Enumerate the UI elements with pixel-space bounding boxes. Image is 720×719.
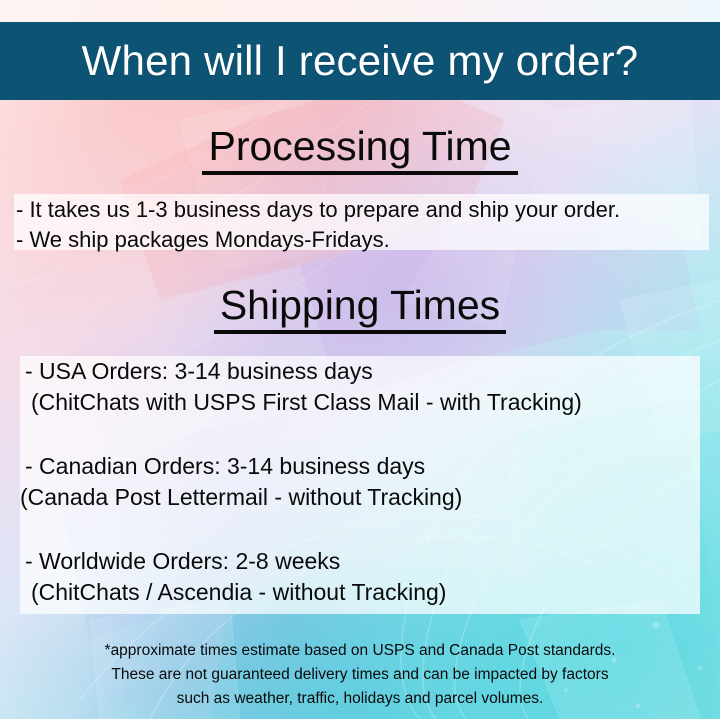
processing-line-1: - It takes us 1-3 business days to prepa… xyxy=(16,199,620,221)
page-title: When will I receive my order? xyxy=(82,40,639,82)
shipping-times-heading: Shipping Times xyxy=(0,285,720,334)
usa-order-carrier: (ChitChats with USPS First Class Mail - … xyxy=(31,391,582,414)
usa-order-region: - USA Orders: 3-14 business days xyxy=(25,360,373,383)
processing-line-2: - We ship packages Mondays-Fridays. xyxy=(16,229,390,251)
shipping-info-poster: When will I receive my order? Processing… xyxy=(0,0,720,719)
top-cream-strip xyxy=(0,0,720,22)
canada-order-carrier: (Canada Post Lettermail - without Tracki… xyxy=(20,486,462,509)
footer-disclaimer: *approximate times estimate based on USP… xyxy=(0,639,720,711)
footer-line-1: *approximate times estimate based on USP… xyxy=(0,639,720,663)
canada-order-region: - Canadian Orders: 3-14 business days xyxy=(25,455,425,478)
footer-line-3: such as weather, traffic, holidays and p… xyxy=(0,687,720,711)
shipping-times-heading-text: Shipping Times xyxy=(214,285,506,334)
header-banner: When will I receive my order? xyxy=(0,22,720,100)
world-order-carrier: (ChitChats / Ascendia - without Tracking… xyxy=(31,581,446,604)
processing-time-heading: Processing Time xyxy=(0,126,720,175)
footer-line-2: These are not guaranteed delivery times … xyxy=(0,663,720,687)
world-order-region: - Worldwide Orders: 2-8 weeks xyxy=(25,550,340,573)
processing-time-heading-text: Processing Time xyxy=(202,126,517,175)
